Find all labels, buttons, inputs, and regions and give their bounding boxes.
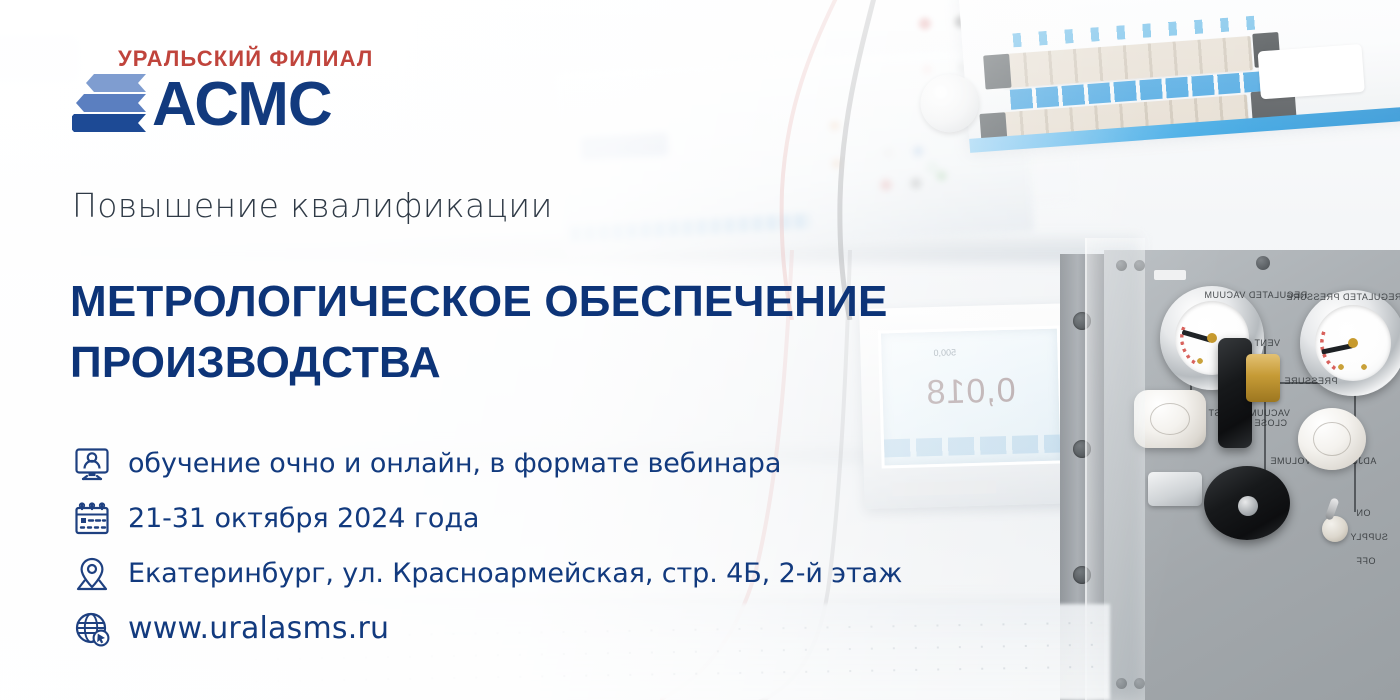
map-pin-icon: [70, 552, 114, 596]
promo-banner: 500,0 0,018: [0, 0, 1400, 700]
logo-main: АСМС: [72, 72, 402, 139]
logo: УРАЛЬСКИЙ ФИЛИАЛ АСМС: [72, 48, 402, 139]
info-text-dates: 21-31 октября 2024 года: [128, 503, 479, 534]
banner-content: УРАЛЬСКИЙ ФИЛИАЛ АСМС Повышение квалифик…: [0, 0, 1400, 700]
globe-cursor-icon: [70, 607, 114, 651]
info-row-dates: 21-31 октября 2024 года: [70, 491, 902, 546]
stacked-bars-emblem-icon: [72, 72, 150, 139]
info-text-address: Екатеринбург, ул. Красноармейская, стр. …: [128, 558, 902, 589]
webinar-monitor-icon: [70, 442, 114, 486]
info-text-website[interactable]: www.uralasms.ru: [128, 611, 389, 646]
info-list: обучение очно и онлайн, в формате вебина…: [70, 436, 902, 656]
logo-top-line: УРАЛЬСКИЙ ФИЛИАЛ: [118, 48, 402, 70]
info-row-format: обучение очно и онлайн, в формате вебина…: [70, 436, 902, 491]
info-row-address: Екатеринбург, ул. Красноармейская, стр. …: [70, 546, 902, 601]
logo-wordmark: АСМС: [152, 76, 332, 135]
kicker-text: Повышение квалификации: [72, 186, 553, 225]
calendar-icon: [70, 497, 114, 541]
info-text-format: обучение очно и онлайн, в формате вебина…: [128, 448, 781, 479]
page-title: МЕТРОЛОГИЧЕСКОЕ ОБЕСПЕЧЕНИЕ ПРОИЗВОДСТВА: [70, 272, 930, 393]
info-row-website[interactable]: www.uralasms.ru: [70, 601, 902, 656]
